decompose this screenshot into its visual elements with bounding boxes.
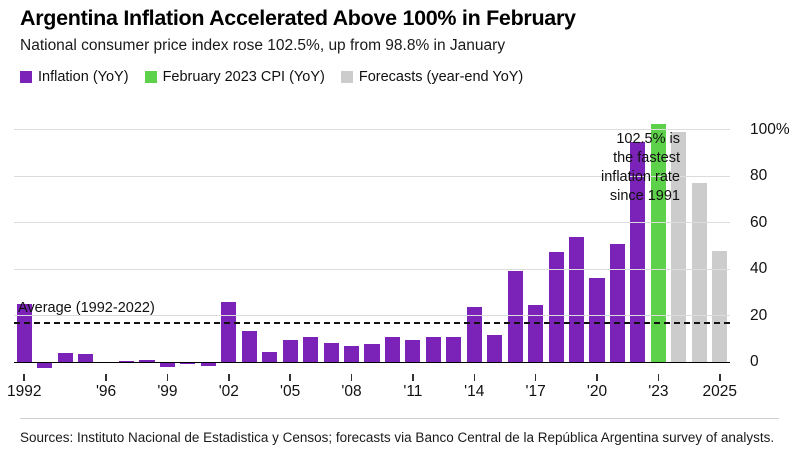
average-reference-line [14,322,730,324]
gridline [14,222,730,223]
bar[interactable] [283,340,298,362]
x-axis-tick [658,374,660,381]
chart-legend: Inflation (YoY)February 2023 CPI (YoY)Fo… [20,70,523,85]
bar[interactable] [487,335,502,363]
x-axis-tick-label: 2025 [703,383,737,401]
x-axis-tick [23,374,25,381]
x-axis-tick [535,374,537,381]
legend-item-label: February 2023 CPI (YoY) [163,70,325,85]
chart-page: Argentina Inflation Accelerated Above 10… [0,0,799,473]
gridline [14,269,730,270]
bar[interactable] [385,337,400,362]
square-swatch [20,71,32,83]
x-axis-tick-label: '23 [648,383,668,401]
x-axis-tick [412,374,414,381]
y-axis-tick-label: 0 [750,353,759,371]
bar[interactable] [712,251,727,363]
x-axis-tick-label: '05 [280,383,300,401]
source-note: Sources: Instituto Nacional de Estadisti… [20,428,780,448]
y-axis-tick-label: 60 [750,214,767,232]
x-axis-tick [228,374,230,381]
x-axis-tick-label: '02 [219,383,239,401]
x-axis-tick [105,374,107,381]
annotation-line: since 1991 [601,187,680,206]
bar[interactable] [692,183,707,362]
footer-divider [20,418,779,419]
bar[interactable] [324,343,339,363]
bar[interactable] [508,271,523,363]
x-axis-tick [596,374,598,381]
bar[interactable] [610,244,625,362]
legend-item-label: Inflation (YoY) [38,70,129,85]
x-axis-tick-label: '17 [526,383,546,401]
bar[interactable] [446,337,461,362]
legend-item[interactable]: Forecasts (year-end YoY) [341,70,523,85]
bar[interactable] [344,346,359,363]
annotation-line: inflation rate [601,168,680,187]
chart-annotation: 102.5% isthe fastestinflation ratesince … [601,130,680,207]
x-axis-tick-label: '11 [403,383,422,401]
x-axis-tick-label: '20 [587,383,607,401]
bar[interactable] [528,305,543,363]
page-subtitle: National consumer price index rose 102.5… [20,37,505,55]
legend-item[interactable]: February 2023 CPI (YoY) [145,70,325,85]
bar[interactable] [589,278,604,362]
x-axis: 1992'96'99'02'05'08'11'14'17'20'232025 [14,374,730,408]
average-line-label: Average (1992-2022) [18,300,155,316]
x-axis-tick-label: '96 [96,383,116,401]
y-axis-tick-label: 100% [750,121,790,139]
annotation-line: the fastest [601,149,680,168]
x-axis-tick-label: '14 [464,383,484,401]
y-axis-tick-label: 40 [750,260,767,278]
axis-baseline [14,362,730,364]
bar[interactable] [426,337,441,362]
annotation-line: 102.5% is [601,130,680,149]
y-axis-tick-label: 20 [750,307,767,325]
bar[interactable] [569,237,584,362]
x-axis-tick-label: '99 [157,383,177,401]
legend-item-label: Forecasts (year-end YoY) [359,70,523,85]
x-axis-tick [474,374,476,381]
x-axis-tick [719,374,721,381]
bar[interactable] [405,340,420,362]
x-axis-tick [289,374,291,381]
y-axis-tick-label: 80 [750,167,767,185]
x-axis-tick [167,374,169,381]
x-axis-tick [351,374,353,381]
bar[interactable] [37,362,52,368]
legend-item[interactable]: Inflation (YoY) [20,70,129,85]
bar[interactable] [242,331,257,362]
bar[interactable] [303,337,318,362]
bar[interactable] [221,302,236,362]
page-title: Argentina Inflation Accelerated Above 10… [20,6,576,31]
bar[interactable] [364,344,379,362]
x-axis-tick-label: '08 [341,383,361,401]
square-swatch [341,71,353,83]
square-swatch [145,71,157,83]
x-axis-tick-label: 1992 [7,383,41,401]
